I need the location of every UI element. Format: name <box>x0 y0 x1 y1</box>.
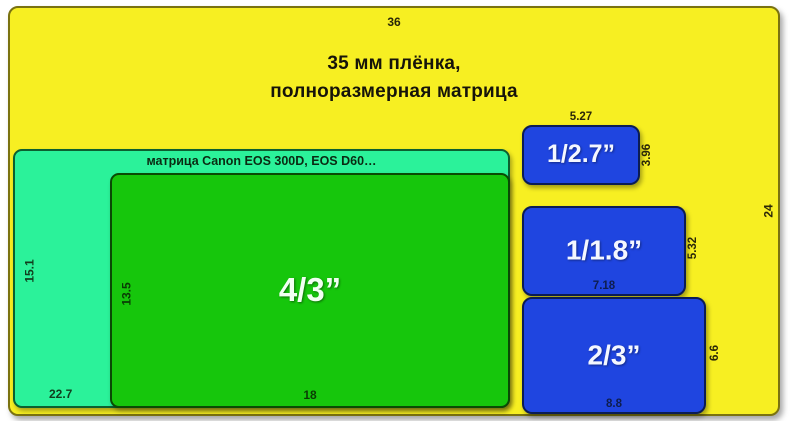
sensor-label-canon-aps-c: матрица Canon EOS 300D, EOS D60… <box>15 154 508 168</box>
dimension-label-1-1-8-height: 5.32 <box>687 237 699 259</box>
sensor-label-four-thirds: 4/3” <box>112 271 508 309</box>
dimension-label-1-1-8-width: 7.18 <box>524 280 684 292</box>
sensor-box-1-2-7: 5.27 1/2.7” 3.96 <box>522 125 640 185</box>
dimension-label-canon-height: 15.1 <box>23 259 37 282</box>
dimension-label-four-thirds-width: 18 <box>112 388 508 402</box>
dimension-label-35mm-width: 36 <box>10 15 778 29</box>
sensor-box-four-thirds: 4/3” 18 13.5 <box>110 173 510 408</box>
dimension-label-1-2-7-height: 3.96 <box>641 144 653 166</box>
sensor-size-comparison-diagram: 36 24 35 мм плёнка, полноразмерная матри… <box>0 0 806 421</box>
dimension-label-canon-width: 22.7 <box>49 387 72 401</box>
sensor-label-1-1-8: 1/1.8” <box>524 234 684 266</box>
dimension-label-four-thirds-height: 13.5 <box>120 282 134 305</box>
dimension-label-2-3-width: 8.8 <box>524 398 704 410</box>
dimension-label-2-3-height: 6.6 <box>709 345 721 361</box>
sensor-box-1-1-8: 1/1.8” 7.18 5.32 <box>522 206 686 296</box>
sensor-label-1-2-7: 1/2.7” <box>524 140 638 169</box>
sensor-box-2-3: 2/3” 8.8 6.6 <box>522 297 706 414</box>
dimension-label-35mm-height: 24 <box>761 204 775 217</box>
diagram-title-line-2: полноразмерная матрица <box>10 78 778 106</box>
diagram-title-line-1: 35 мм плёнка, <box>10 50 778 78</box>
diagram-title: 35 мм плёнка, полноразмерная матрица <box>10 50 778 105</box>
sensor-label-2-3: 2/3” <box>524 339 704 371</box>
dimension-label-1-2-7-width: 5.27 <box>524 111 638 123</box>
